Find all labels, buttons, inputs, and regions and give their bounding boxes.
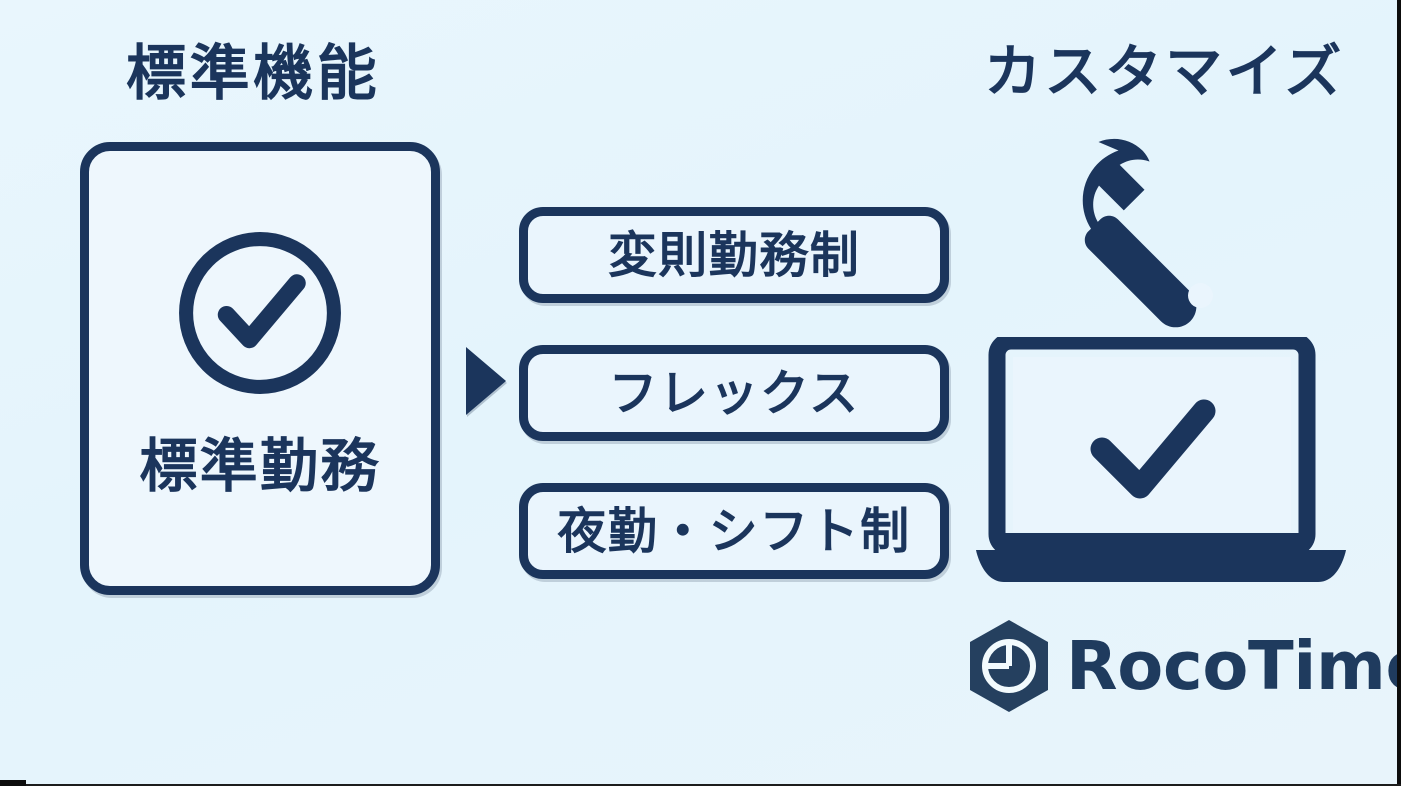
option-box-flex[interactable]: フレックス	[519, 345, 949, 441]
frame-edge-bottom-left	[0, 780, 26, 786]
option-box-label: フレックス	[609, 369, 860, 418]
option-box-irregular-shift[interactable]: 変則勤務制	[519, 207, 949, 303]
standard-work-label: 標準勤務	[89, 437, 431, 495]
frame-edge-right	[1397, 0, 1401, 786]
brand-wordmark: RocoTime	[1066, 633, 1401, 700]
option-box-label: 夜勤・シフト制	[557, 507, 910, 556]
standard-work-panel: 標準勤務	[80, 142, 440, 595]
check-circle-icon	[172, 225, 348, 401]
brand-logo: RocoTime	[966, 617, 1348, 715]
wrench-icon	[1040, 138, 1256, 330]
option-box-label: 変則勤務制	[608, 231, 860, 280]
page-title-customize: カスタマイズ	[984, 44, 1345, 101]
flow-arrow-icon	[466, 347, 506, 415]
option-box-night-shift[interactable]: 夜勤・シフト制	[519, 483, 949, 579]
page-title-standard: 標準機能	[126, 44, 380, 104]
laptop-check-icon	[972, 337, 1350, 590]
hexagon-clock-icon	[966, 619, 1052, 713]
diagram-canvas: 標準機能 カスタマイズ 標準勤務 変則勤務制 フレックス 夜勤・シフト制	[0, 0, 1401, 786]
